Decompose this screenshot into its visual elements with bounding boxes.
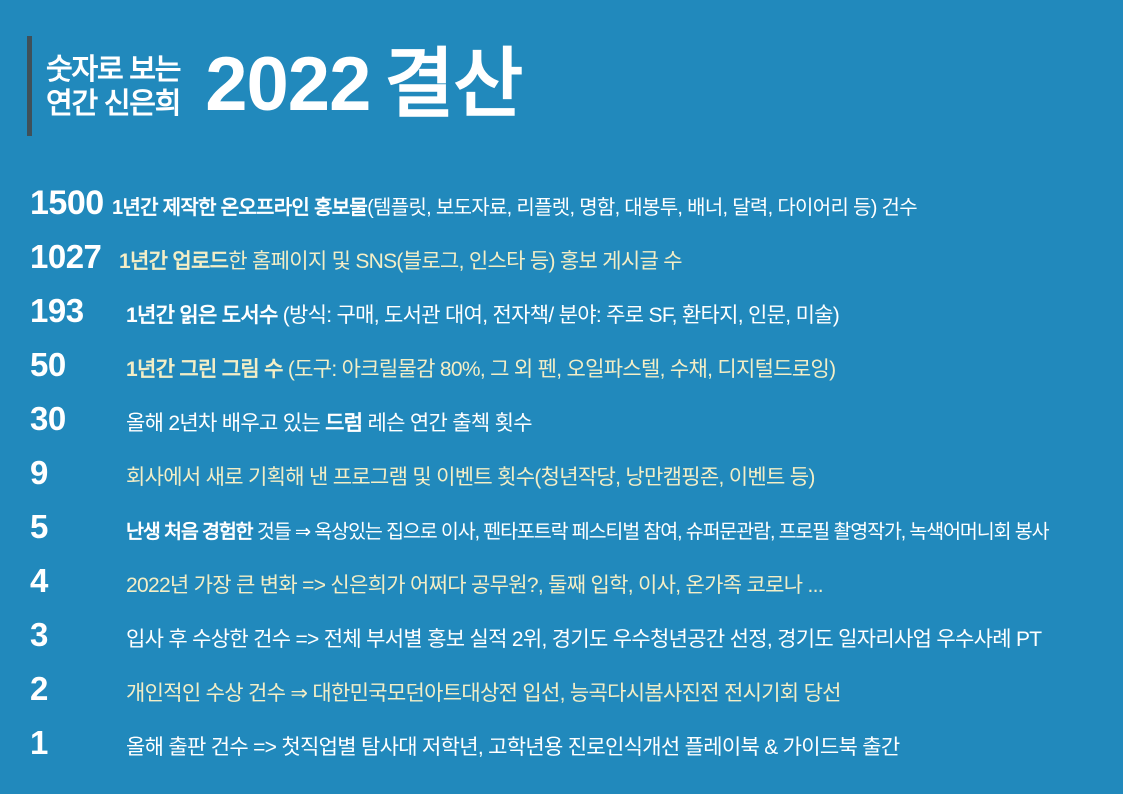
stat-description-rest: 한 홈페이지 및 SNS(블로그, 인스타 등) 홍보 게시글 수 [228,250,682,273]
stat-description-lead: 1년간 그린 그림 수 [126,358,283,381]
stat-row: 1500 1년간 제작한 온오프라인 홍보물(템플릿, 보도자료, 리플렛, 명… [0,186,1123,240]
stat-row: 193 1년간 읽은 도서수 (방식: 구매, 도서관 대여, 전자책/ 분야:… [0,294,1123,348]
stat-description-rest: (도구: 아크릴물감 80%, 그 외 펜, 오일파스텔, 수채, 디지털드로잉… [283,358,836,381]
stat-description: 1년간 제작한 온오프라인 홍보물(템플릿, 보도자료, 리플렛, 명함, 대봉… [112,198,1123,218]
stat-row: 3 입사 후 수상한 건수 => 전체 부서별 홍보 실적 2위, 경기도 우수… [0,618,1123,672]
stat-description: 개인적인 수상 건수 ⇒ 대한민국모던아트대상전 입선, 능곡다시봄사진전 전시… [126,683,1123,704]
header-kicker: 숫자로 보는 연간 신은희 [46,53,180,121]
stat-description: 1년간 그린 그림 수 (도구: 아크릴물감 80%, 그 외 펜, 오일파스텔… [126,359,1123,380]
title-word: 결산 [384,42,522,127]
stat-description-rest: 회사에서 새로 기획해 낸 프로그램 및 이벤트 횟수(청년작당, 낭만캠핑존,… [126,466,815,489]
stat-number: 5 [0,510,116,543]
stat-description-emphasis: 드럼 [325,412,362,435]
stat-description: 난생 처음 경험한 것들 ⇒ 옥상있는 집으로 이사, 펜타포트락 페스티벌 참… [126,523,1123,543]
stat-number: 4 [0,564,116,597]
header-accent-bar [27,36,32,136]
stat-description: 회사에서 새로 기획해 낸 프로그램 및 이벤트 횟수(청년작당, 낭만캠핑존,… [126,467,1123,488]
stats-list: 1500 1년간 제작한 온오프라인 홍보물(템플릿, 보도자료, 리플렛, 명… [0,186,1123,780]
stat-number: 50 [0,348,116,381]
stat-description-rest: (방식: 구매, 도서관 대여, 전자책/ 분야: 주로 SF, 환타지, 인문… [278,304,840,327]
stat-number: 30 [0,402,116,435]
stat-description: 올해 출판 건수 => 첫직업별 탐사대 저학년, 고학년용 진로인식개선 플레… [126,737,1123,758]
stat-description-rest: 것들 ⇒ 옥상있는 집으로 이사, 펜타포트락 페스티벌 참여, 슈퍼문관람, … [253,521,1049,543]
stat-description-rest: 개인적인 수상 건수 ⇒ 대한민국모던아트대상전 입선, 능곡다시봄사진전 전시… [126,682,841,705]
stat-row: 50 1년간 그린 그림 수 (도구: 아크릴물감 80%, 그 외 펜, 오일… [0,348,1123,402]
stat-description-rest: 입사 후 수상한 건수 => 전체 부서별 홍보 실적 2위, 경기도 우수청년… [126,628,1041,651]
stat-row: 1027 1년간 업로드한 홈페이지 및 SNS(블로그, 인스타 등) 홍보 … [0,240,1123,294]
page-title: 2022결산 [205,47,522,123]
stat-row: 30 올해 2년차 배우고 있는 드럼 레슨 연간 출첵 횟수 [0,402,1123,456]
stat-row: 9 회사에서 새로 기획해 낸 프로그램 및 이벤트 횟수(청년작당, 낭만캠핑… [0,456,1123,510]
stat-number: 2 [0,672,116,705]
stat-description-lead: 1년간 업로드 [119,250,228,273]
stat-row: 2 개인적인 수상 건수 ⇒ 대한민국모던아트대상전 입선, 능곡다시봄사진전 … [0,672,1123,726]
stat-row: 1 올해 출판 건수 => 첫직업별 탐사대 저학년, 고학년용 진로인식개선 … [0,726,1123,780]
poster-header: 숫자로 보는 연간 신은희 2022결산 [0,0,1123,168]
stat-description-lead: 1년간 제작한 온오프라인 홍보물 [112,197,367,219]
stat-description-rest: (템플릿, 보도자료, 리플렛, 명함, 대봉투, 배너, 달력, 다이어리 등… [367,197,917,219]
stat-number: 1 [0,726,116,759]
stat-description-rest: 올해 출판 건수 => 첫직업별 탐사대 저학년, 고학년용 진로인식개선 플레… [126,736,900,759]
stat-description: 1년간 업로드한 홈페이지 및 SNS(블로그, 인스타 등) 홍보 게시글 수 [119,251,1123,272]
stat-description: 1년간 읽은 도서수 (방식: 구매, 도서관 대여, 전자책/ 분야: 주로 … [126,305,1123,326]
stat-description-rest: 2022년 가장 큰 변화 => 신은희가 어쩌다 공무원?, 둘째 입학, 이… [126,574,823,597]
stat-description-lead: 1년간 읽은 도서수 [126,304,278,327]
title-year: 2022 [205,42,370,127]
stat-description-tail: 레슨 연간 출첵 횟수 [362,412,532,435]
stat-description: 올해 2년차 배우고 있는 드럼 레슨 연간 출첵 횟수 [126,413,1123,434]
stat-number: 1027 [0,240,116,273]
stat-number: 9 [0,456,116,489]
stat-number: 1500 [0,186,116,220]
stat-description: 입사 후 수상한 건수 => 전체 부서별 홍보 실적 2위, 경기도 우수청년… [126,629,1123,650]
stat-description: 2022년 가장 큰 변화 => 신은희가 어쩌다 공무원?, 둘째 입학, 이… [126,575,1123,596]
stat-row: 5 난생 처음 경험한 것들 ⇒ 옥상있는 집으로 이사, 펜타포트락 페스티벌… [0,510,1123,564]
stat-description-lead: 난생 처음 경험한 [126,521,253,543]
infographic-poster: 숫자로 보는 연간 신은희 2022결산 1500 1년간 제작한 온오프라인 … [0,0,1123,794]
stat-number: 3 [0,618,116,651]
stat-number: 193 [0,294,116,327]
stat-description-rest: 올해 2년차 배우고 있는 [126,412,325,435]
header-kicker-line2: 연간 신은희 [46,87,180,121]
header-kicker-line1: 숫자로 보는 [46,53,180,87]
stat-row: 4 2022년 가장 큰 변화 => 신은희가 어쩌다 공무원?, 둘째 입학,… [0,564,1123,618]
